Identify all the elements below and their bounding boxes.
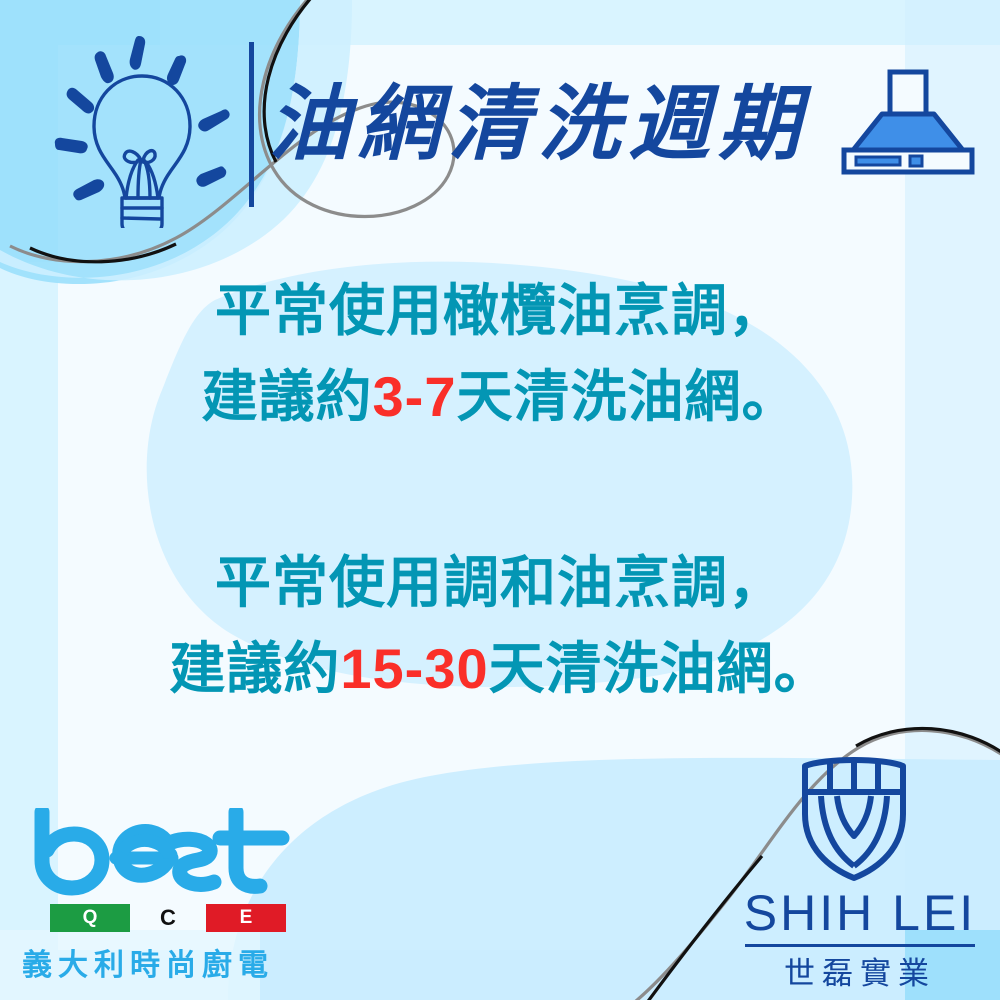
olive-prefix: 建議約 bbox=[202, 365, 373, 428]
page-title: 油網清洗週期 bbox=[268, 60, 838, 190]
blended-interval-highlight: 15-30 bbox=[340, 637, 488, 700]
title-divider bbox=[249, 42, 254, 207]
shihlei-divider bbox=[745, 944, 975, 947]
paragraph-olive-oil-line1: 平常使用橄欖油烹調， bbox=[0, 268, 1000, 354]
paragraph-olive-oil: 平常使用橄欖油烹調， 建議約3-7天清洗油網。 bbox=[0, 268, 1000, 440]
paragraph-blended-oil-line1: 平常使用調和油烹調， bbox=[0, 540, 1000, 626]
lightbulb-icon bbox=[42, 28, 242, 228]
shield-icon bbox=[799, 752, 909, 882]
range-hood-icon bbox=[838, 68, 978, 176]
best-certification-badges: Q C E bbox=[34, 904, 302, 934]
badge-c: C bbox=[146, 904, 190, 932]
paragraph-olive-oil-line2: 建議約3-7天清洗油網。 bbox=[0, 354, 1000, 440]
poster-root: 油網清洗週期 平常使用橄欖油烹調， 建議約3-7天清洗油網。 平常使用調和油烹調… bbox=[0, 0, 1000, 1000]
paragraph-blended-oil: 平常使用調和油烹調， 建議約15-30天清洗油網。 bbox=[0, 540, 1000, 712]
paragraph-blended-oil-line2: 建議約15-30天清洗油網。 bbox=[0, 626, 1000, 712]
olive-suffix: 天清洗油網。 bbox=[456, 365, 798, 428]
shihlei-name-en: SHIH LEI bbox=[735, 884, 985, 942]
brand-best: Q C E 義大利時尚廚電 bbox=[22, 808, 322, 983]
blended-suffix: 天清洗油網。 bbox=[489, 637, 831, 700]
badge-e: E bbox=[206, 904, 286, 932]
body-content: 平常使用橄欖油烹調， 建議約3-7天清洗油網。 平常使用調和油烹調， 建議約15… bbox=[0, 268, 1000, 712]
best-wordmark bbox=[30, 808, 300, 896]
header: 油網清洗週期 bbox=[0, 0, 1000, 250]
badge-q: Q bbox=[50, 904, 130, 932]
best-tagline: 義大利時尚廚電 bbox=[22, 940, 312, 984]
shihlei-name-zh: 世磊實業 bbox=[735, 948, 985, 993]
blended-prefix: 建議約 bbox=[169, 637, 340, 700]
brand-shihlei: SHIH LEI 世磊實業 bbox=[735, 752, 985, 992]
olive-interval-highlight: 3-7 bbox=[373, 365, 457, 428]
